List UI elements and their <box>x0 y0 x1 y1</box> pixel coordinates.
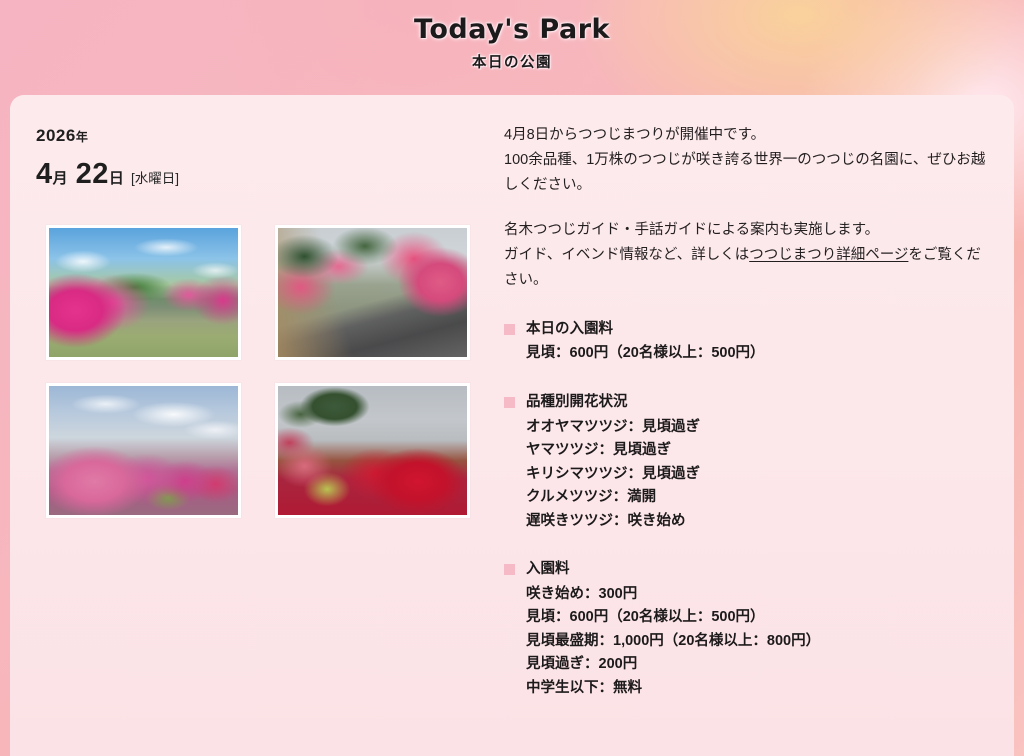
section-header: 本日の入園料 <box>504 319 994 341</box>
section-line: キリシマツツジ：見頃過ぎ <box>526 463 994 486</box>
left-column: 2026年 4月22日[水曜日] <box>36 127 486 189</box>
section-line: クルメツツジ：満開 <box>526 486 994 509</box>
site-subtitle: 本日の公園 <box>0 51 1024 72</box>
intro-line-2: 100余品種、1万株のつつじが咲き誇る世界一のつつじの名園に、ぜひお越しください… <box>504 152 985 193</box>
section-today-admission: 本日の入園料 見頃：600円（20名様以上：500円） <box>504 319 994 366</box>
site-title: Today's Park <box>0 14 1024 45</box>
photo-azalea-hillside <box>49 386 238 515</box>
section-bloom-status-by-variety: 品種別開花状況 オオヤマツツジ：見頃過ぎ ヤマツツジ：見頃過ぎ キリシマツツジ：… <box>504 392 994 533</box>
section-line: 見頃過ぎ：200円 <box>526 653 994 676</box>
right-column: 4月8日からつつじまつりが開催中です。 100余品種、1万株のつつじが咲き誇る世… <box>504 123 994 700</box>
photo-frame-2[interactable] <box>275 225 470 360</box>
intro-paragraph-2: 名木つつじガイド・手話ガイドによる案内も実施します。 ガイド、イベンド情報など、… <box>504 218 994 293</box>
intro-paragraph-1: 4月8日からつつじまつりが開催中です。 100余品種、1万株のつつじが咲き誇る世… <box>504 123 994 198</box>
photo-frame-4[interactable] <box>275 383 470 518</box>
section-body: 咲き始め：300円 見頃：600円（20名様以上：500円） 見頃最盛期：1,0… <box>526 583 994 700</box>
section-line: 見頃：600円（20名様以上：500円） <box>526 606 994 629</box>
section-line: 中学生以下：無料 <box>526 677 994 700</box>
date-year-unit: 年 <box>76 130 89 144</box>
date-year-value: 2026 <box>36 126 76 145</box>
intro-line-1: 4月8日からつつじまつりが開催中です。 <box>504 127 765 143</box>
page-root: Today's Park 本日の公園 2026年 4月22日[水曜日] <box>0 0 1024 756</box>
photo-frame-3[interactable] <box>46 383 241 518</box>
section-line: 見頃：600円（20名様以上：500円） <box>526 342 994 365</box>
section-line: 咲き始め：300円 <box>526 583 994 606</box>
section-line: ヤマツツジ：見頃過ぎ <box>526 439 994 462</box>
section-title: 入園料 <box>526 559 570 581</box>
page-header: Today's Park 本日の公園 <box>0 0 1024 95</box>
date-day-unit: 日 <box>109 170 124 187</box>
section-body: 見頃：600円（20名様以上：500円） <box>526 342 994 365</box>
date-main: 4月22日[水曜日] <box>36 160 486 189</box>
content-card: 2026年 4月22日[水曜日] 4月8日からつつじまつりが開催中です。 <box>10 95 1014 756</box>
date-month-value: 4 <box>36 158 53 190</box>
photo-red-azaleas-pine <box>278 386 467 515</box>
photo-azalea-arch-path <box>278 228 467 357</box>
intro-line-4-prefix: ガイド、イベンド情報など、詳しくは <box>504 247 749 263</box>
photo-frame-1[interactable] <box>46 225 241 360</box>
bullet-square-icon <box>504 397 515 408</box>
section-header: 品種別開花状況 <box>504 392 994 414</box>
section-header: 入園料 <box>504 559 994 581</box>
date-day-value: 22 <box>76 158 109 190</box>
photo-grid <box>46 225 486 518</box>
section-body: オオヤマツツジ：見頃過ぎ ヤマツツジ：見頃過ぎ キリシマツツジ：見頃過ぎ クルメ… <box>526 416 994 533</box>
section-line: 見頃最盛期：1,000円（20名様以上：800円） <box>526 630 994 653</box>
section-title: 品種別開花状況 <box>526 392 628 414</box>
date-weekday: [水曜日] <box>131 171 179 186</box>
date-year: 2026年 <box>36 127 486 144</box>
bullet-square-icon <box>504 564 515 575</box>
bullet-square-icon <box>504 324 515 335</box>
section-admission-fees: 入園料 咲き始め：300円 見頃：600円（20名様以上：500円） 見頃最盛期… <box>504 559 994 700</box>
intro-line-3: 名木つつじガイド・手話ガイドによる案内も実施します。 <box>504 222 879 238</box>
photo-azaleas-pond <box>49 228 238 357</box>
section-line: オオヤマツツジ：見頃過ぎ <box>526 416 994 439</box>
section-line: 遅咲きツツジ：咲き始め <box>526 510 994 533</box>
date-month-unit: 月 <box>53 170 68 187</box>
tsutsuji-festival-detail-link[interactable]: つつじまつり詳細ページ <box>749 247 908 263</box>
section-title: 本日の入園料 <box>526 319 613 341</box>
